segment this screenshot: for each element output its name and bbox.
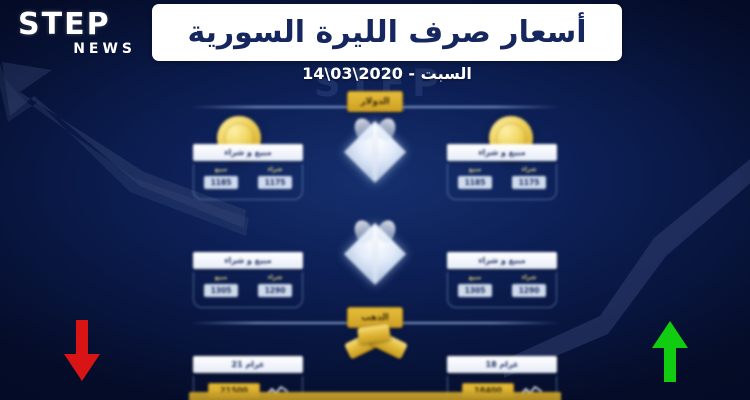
rate-card: مبيع و شراء شراء 1290 مبيع 1305 (193, 252, 303, 308)
rate-cell: مبيع 1185 (452, 166, 498, 199)
date-label: السبت - 2020\03\14 (152, 64, 622, 83)
section-dollar: الدولار مبيع و شراء شراء 1175 مبيع 1185 (175, 88, 575, 196)
page-title: أسعار صرف الليرة السورية (187, 16, 586, 49)
rate-card: مبيع و شراء شراء 1175 مبيع 1185 (447, 144, 557, 200)
section-badge-dollar: الدولار (347, 91, 403, 112)
rate-card-name: مبيع و شراء (447, 252, 557, 269)
step-news-logo: STEP NEWS (18, 10, 138, 62)
rate-card-name: مبيع و شراء (447, 144, 557, 161)
section-gold: الذهب غرام 21 21500 غرام 18 (175, 304, 575, 400)
rate-cell-head: مبيع (469, 166, 482, 173)
rate-cell-value: 1305 (204, 284, 238, 297)
infographic-canvas: STEP NEWS STEP NEWS أسعار صرف الليرة الس… (0, 0, 750, 400)
bottom-strip (189, 392, 561, 400)
rate-card-name: مبيع و شراء (193, 144, 303, 161)
rate-cell-head: مبيع (215, 274, 228, 281)
rate-card-name: مبيع و شراء (193, 252, 303, 269)
rate-cell: شراء 1175 (252, 166, 298, 199)
title-plate: أسعار صرف الليرة السورية (152, 4, 622, 61)
rate-cell: شراء 1175 (506, 166, 552, 199)
arrow-down-icon (62, 320, 102, 382)
rate-cell-head: شراء (522, 274, 537, 281)
gold-bars-icon (342, 320, 408, 364)
gold-card-name: غرام 18 (447, 356, 557, 373)
silver-diamond-emblem-icon (344, 112, 406, 188)
rate-cell-value: 1305 (458, 284, 492, 297)
rate-card: مبيع و شراء شراء 1175 مبيع 1185 (193, 144, 303, 200)
rate-cell: شراء 1290 (252, 274, 298, 307)
rate-cell-value: 1290 (512, 284, 546, 297)
rate-cell-head: مبيع (469, 274, 482, 281)
silver-diamond-emblem-icon (344, 214, 406, 290)
arrow-up-icon (650, 320, 690, 382)
rate-cell-head: شراء (268, 274, 283, 281)
rate-cell-head: مبيع (215, 166, 228, 173)
rate-card: مبيع و شراء شراء 1290 مبيع 1305 (447, 252, 557, 308)
rates-panel: الدولار مبيع و شراء شراء 1175 مبيع 1185 (175, 88, 575, 400)
rate-cell: مبيع 1305 (452, 274, 498, 307)
rate-cell-head: شراء (268, 166, 283, 173)
rate-cell: مبيع 1185 (198, 166, 244, 199)
rate-cell-value: 1185 (458, 176, 492, 189)
rate-cell-value: 1175 (258, 176, 292, 189)
rate-cell-value: 1185 (204, 176, 238, 189)
rate-cell: شراء 1290 (506, 274, 552, 307)
rate-cell-value: 1175 (512, 176, 546, 189)
logo-main-text: STEP (18, 10, 138, 40)
rate-cell-head: شراء (522, 166, 537, 173)
section-euro: مبيع و شراء شراء 1290 مبيع 1305 مبيع و ش… (175, 196, 575, 304)
rate-cell: مبيع 1305 (198, 274, 244, 307)
gold-card-name: غرام 21 (193, 356, 303, 373)
logo-sub-text: NEWS (18, 41, 138, 57)
rate-cell-value: 1290 (258, 284, 292, 297)
